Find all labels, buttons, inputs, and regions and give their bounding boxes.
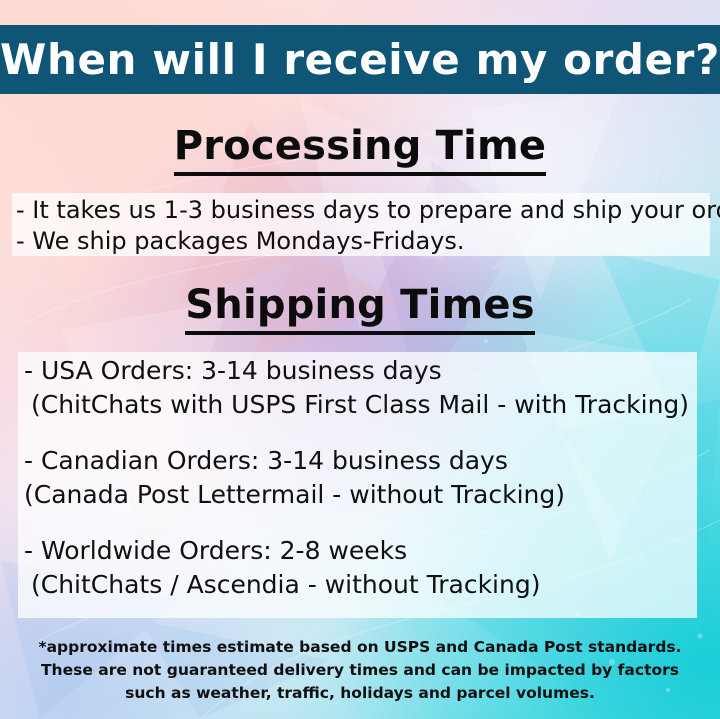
- footer-disclaimer: *approximate times estimate based on USP…: [0, 636, 720, 705]
- shipping-entry-carrier: (ChitChats with USPS First Class Mail - …: [24, 388, 704, 422]
- shipping-times-list: - USA Orders: 3-14 business days (ChitCh…: [24, 354, 704, 602]
- section-heading-shipping-times-text: Shipping Times: [185, 282, 534, 335]
- shipping-entry-main: - Canadian Orders: 3-14 business days: [24, 444, 704, 478]
- shipping-entry-main: - USA Orders: 3-14 business days: [24, 354, 704, 388]
- shipping-entry-carrier: (ChitChats / Ascendia - without Tracking…: [24, 568, 704, 602]
- footer-disclaimer-line: These are not guaranteed delivery times …: [0, 659, 720, 682]
- footer-disclaimer-line: *approximate times estimate based on USP…: [0, 636, 720, 659]
- shipping-info-graphic: When will I receive my order? Processing…: [0, 0, 720, 719]
- header-banner: When will I receive my order?: [0, 25, 720, 94]
- page-title: When will I receive my order?: [0, 39, 720, 81]
- footer-disclaimer-line: such as weather, traffic, holidays and p…: [0, 682, 720, 705]
- processing-time-line: - We ship packages Mondays-Fridays.: [16, 226, 716, 257]
- processing-time-list: - It takes us 1-3 business days to prepa…: [16, 195, 716, 257]
- processing-time-line: - It takes us 1-3 business days to prepa…: [16, 195, 716, 226]
- shipping-entry-usa: - USA Orders: 3-14 business days (ChitCh…: [24, 354, 704, 422]
- section-heading-processing-time-text: Processing Time: [174, 123, 547, 176]
- shipping-entry-main: - Worldwide Orders: 2-8 weeks: [24, 534, 704, 568]
- shipping-entry-canada: - Canadian Orders: 3-14 business days (C…: [24, 444, 704, 512]
- shipping-entry-worldwide: - Worldwide Orders: 2-8 weeks (ChitChats…: [24, 534, 704, 602]
- section-heading-shipping-times: Shipping Times: [0, 285, 720, 325]
- shipping-entry-carrier: (Canada Post Lettermail - without Tracki…: [24, 478, 704, 512]
- section-heading-processing-time: Processing Time: [0, 126, 720, 166]
